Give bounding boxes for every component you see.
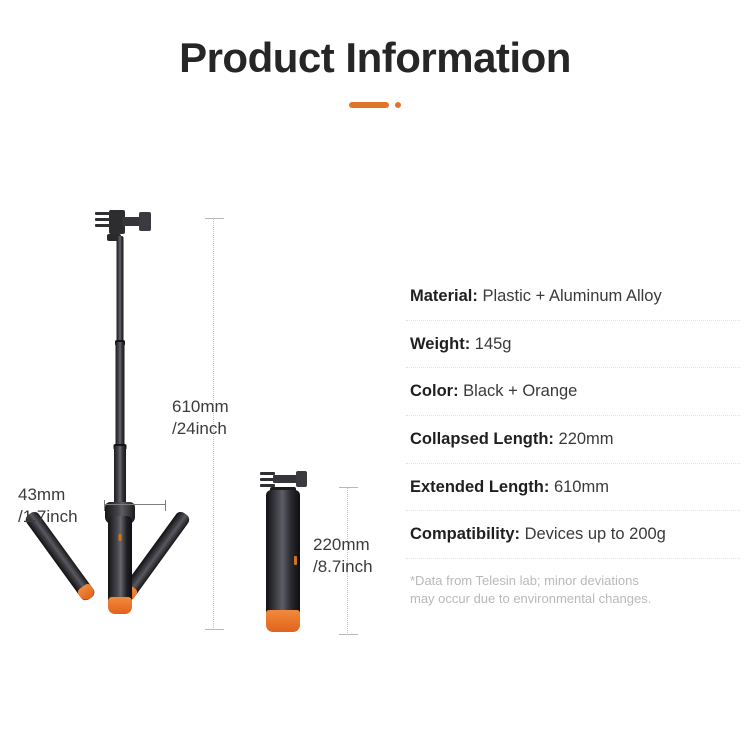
- spec-row-color: Color: Black + Orange: [406, 381, 740, 416]
- pole-segment: [116, 342, 125, 450]
- dimension-label-base-width: 43mm /1.7inch: [18, 484, 78, 529]
- spec-row-material: Material: Plastic + Aluminum Alloy: [406, 284, 740, 321]
- dash-dot-divider-icon: [0, 101, 750, 108]
- gopro-mount-head-icon: [95, 210, 151, 236]
- spec-row-weight: Weight: 145g: [406, 334, 740, 369]
- tripod-foot: [108, 597, 132, 614]
- spec-label: Color:: [410, 382, 459, 400]
- spec-label: Extended Length:: [410, 478, 549, 496]
- mount-thumbscrew-icon: [139, 212, 151, 231]
- leg-detail-mark: [119, 534, 122, 541]
- spec-value: 610mm: [554, 478, 609, 496]
- dimension-label-collapsed-height: 220mm /8.7inch: [313, 534, 373, 579]
- page-title: Product Information: [0, 34, 750, 81]
- spec-row-extended-length: Extended Length: 610mm: [406, 477, 740, 512]
- spec-value: Black + Orange: [463, 382, 577, 400]
- product-information-page: Product Information: [0, 0, 750, 750]
- body-detail-mark: [294, 556, 297, 565]
- spec-value: Devices up to 200g: [525, 525, 666, 543]
- dimension-line-base-width: [104, 504, 166, 506]
- collapsed-base-foot: [266, 610, 300, 632]
- spec-value: Plastic + Aluminum Alloy: [482, 287, 661, 305]
- collapsed-tripod-illustration: [252, 470, 322, 650]
- spec-row-compatibility: Compatibility: Devices up to 200g: [406, 524, 740, 559]
- tripod-foot: [76, 582, 96, 602]
- collapsed-body: [266, 490, 300, 616]
- divider-bar: [349, 102, 389, 108]
- divider-dot: [395, 102, 401, 108]
- spec-label: Collapsed Length:: [410, 430, 554, 448]
- spec-label: Material:: [410, 287, 478, 305]
- spec-label: Weight:: [410, 335, 470, 353]
- dimension-label-extended-height: 610mm /24inch: [172, 396, 229, 441]
- spec-value: 145g: [475, 335, 512, 353]
- spec-panel: Material: Plastic + Aluminum Alloy Weigh…: [406, 284, 740, 609]
- spec-row-collapsed-length: Collapsed Length: 220mm: [406, 429, 740, 464]
- tripod-leg-center: [108, 516, 132, 612]
- pole-segment: [117, 236, 124, 346]
- footnote: *Data from Telesin lab; minor deviations…: [406, 572, 740, 609]
- header: Product Information: [0, 34, 750, 108]
- spec-value: 220mm: [559, 430, 614, 448]
- spec-label: Compatibility:: [410, 525, 520, 543]
- mount-thumbscrew-icon: [296, 471, 307, 487]
